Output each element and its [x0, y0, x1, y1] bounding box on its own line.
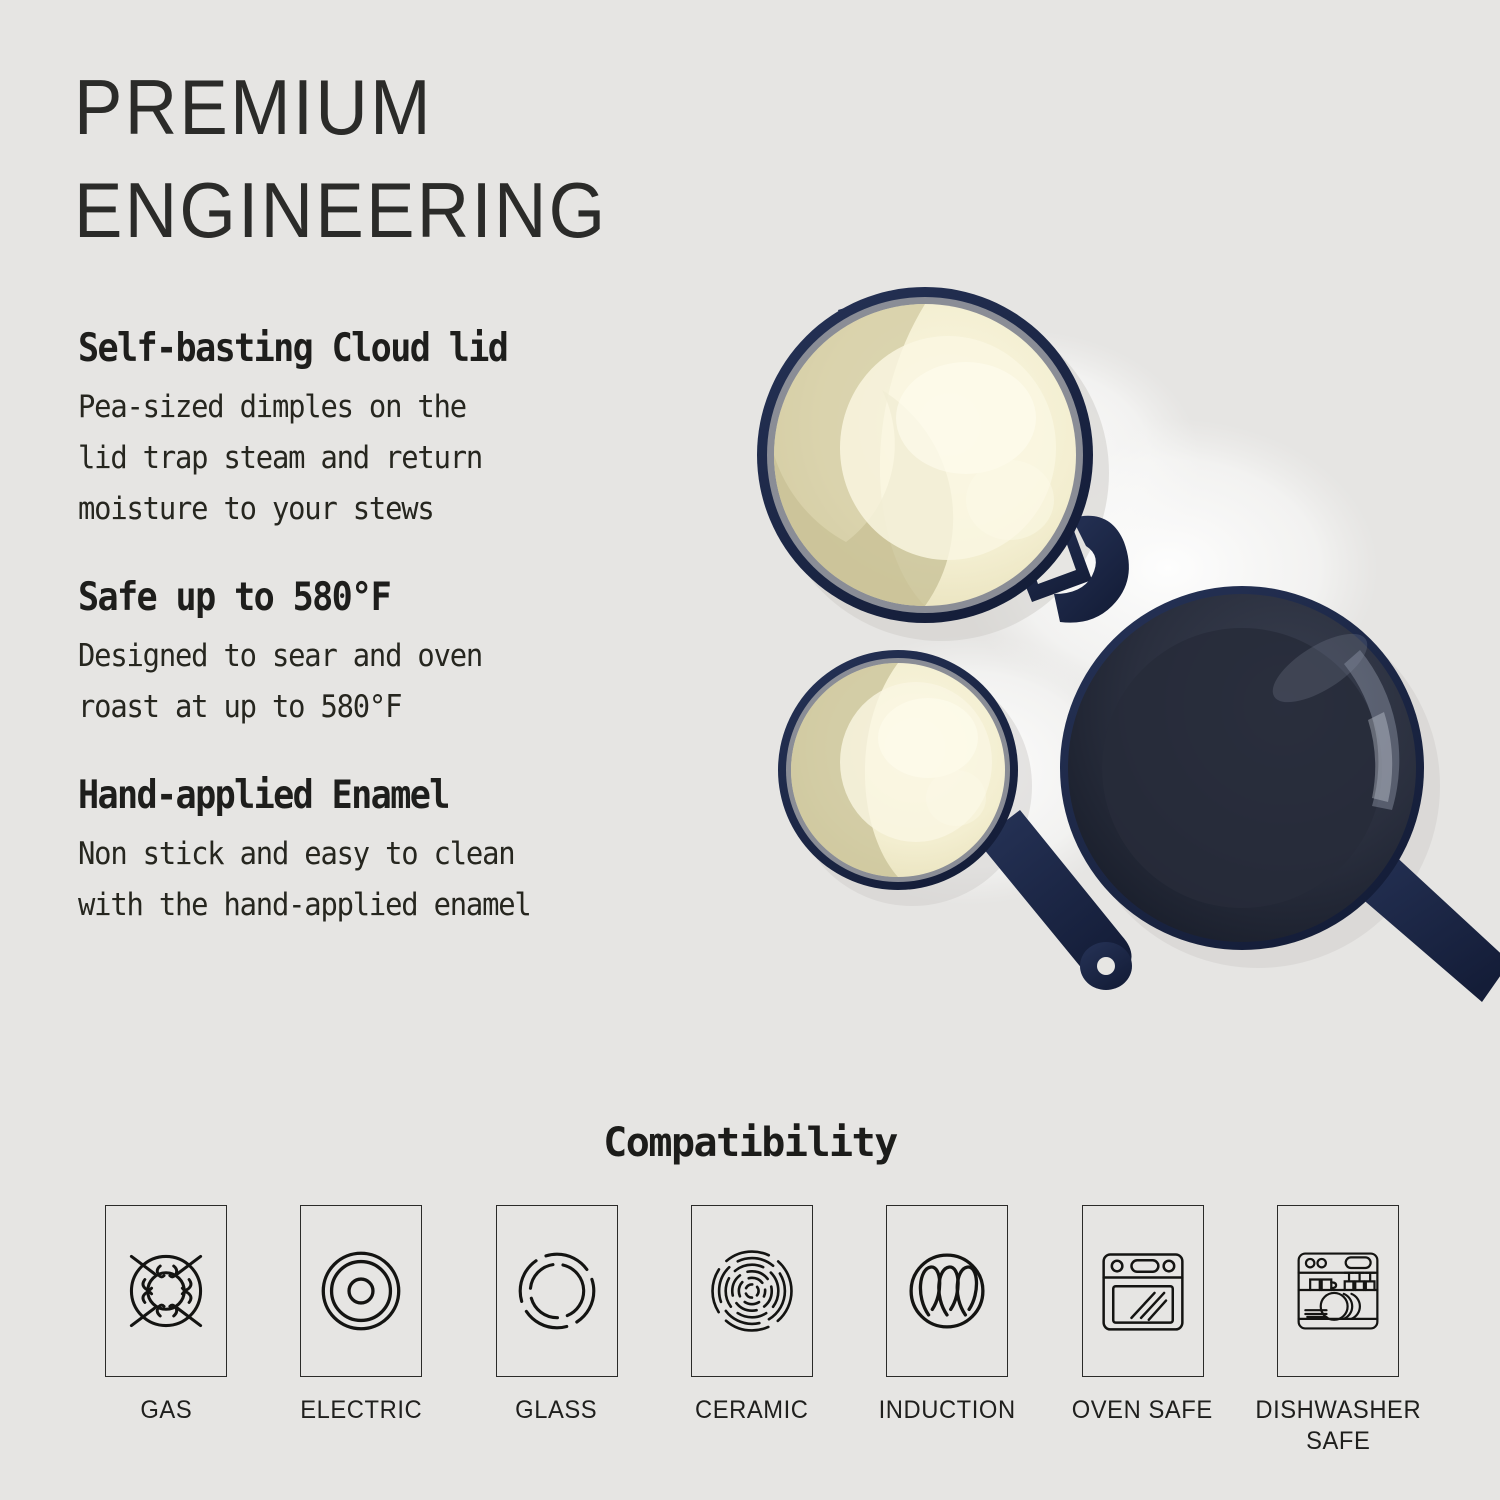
cookware-product-image — [720, 250, 1500, 1040]
saucepan-handle-hole — [1097, 957, 1115, 975]
skillet — [1060, 586, 1500, 1002]
feature-list: Self-basting Cloud lid Pea-sized dimples… — [78, 328, 778, 973]
compatibility-heading: Compatibility — [0, 1120, 1500, 1166]
compat-item-gas: GAS — [78, 1205, 254, 1426]
compatibility-row: GAS ELECTRIC GLASS — [78, 1205, 1426, 1456]
glass-cooktop-icon — [511, 1245, 603, 1337]
ceramic-cooktop-icon — [705, 1244, 799, 1338]
compat-icon-box — [105, 1205, 227, 1377]
feature-body: Non stick and easy to clean with the han… — [78, 829, 719, 931]
compat-icon-box — [496, 1205, 618, 1377]
feature-title: Safe up to 580°F — [78, 577, 708, 619]
dishwasher-icon — [1290, 1243, 1386, 1339]
compat-icon-box — [1277, 1205, 1399, 1377]
compat-icon-box — [886, 1205, 1008, 1377]
compat-icon-box — [1082, 1205, 1204, 1377]
compat-label: GAS — [140, 1395, 192, 1426]
compat-icon-box — [300, 1205, 422, 1377]
compat-label: OVEN SAFE — [1072, 1395, 1213, 1426]
feature-body: Designed to sear and oven roast at up to… — [78, 631, 719, 733]
infographic-page: PREMIUM ENGINEERING Self-basting Cloud l… — [0, 0, 1500, 1500]
compat-item-oven-safe: OVEN SAFE — [1055, 1205, 1231, 1426]
compat-label: ELECTRIC — [300, 1395, 422, 1426]
feature-item-hand-applied-enamel: Hand-applied Enamel Non stick and easy t… — [78, 775, 778, 931]
feature-title: Hand-applied Enamel — [78, 775, 708, 817]
gas-burner-icon — [118, 1243, 214, 1339]
induction-coil-icon — [901, 1245, 993, 1337]
compat-item-electric: ELECTRIC — [273, 1205, 449, 1426]
compat-item-glass: GLASS — [469, 1205, 645, 1426]
compat-label: DISHWASHER SAFE — [1255, 1395, 1421, 1456]
oven-icon — [1095, 1243, 1191, 1339]
compat-label: GLASS — [516, 1395, 598, 1426]
electric-coil-icon — [315, 1245, 407, 1337]
compat-label: CERAMIC — [695, 1395, 809, 1426]
feature-item-safe-up-to-580f: Safe up to 580°F Designed to sear and ov… — [78, 577, 778, 733]
compat-item-ceramic: CERAMIC — [664, 1205, 840, 1426]
compat-icon-box — [691, 1205, 813, 1377]
feature-title: Self-basting Cloud lid — [78, 328, 708, 370]
feature-item-self-basting-cloud-lid: Self-basting Cloud lid Pea-sized dimples… — [78, 328, 778, 535]
compat-label: INDUCTION — [879, 1395, 1016, 1426]
feature-body: Pea-sized dimples on the lid trap steam … — [78, 382, 719, 535]
compat-item-induction: INDUCTION — [859, 1205, 1035, 1426]
cookware-illustration — [720, 250, 1500, 1040]
page-title: PREMIUM ENGINEERING — [74, 56, 781, 262]
compat-item-dishwasher-safe: DISHWASHER SAFE — [1250, 1205, 1426, 1456]
